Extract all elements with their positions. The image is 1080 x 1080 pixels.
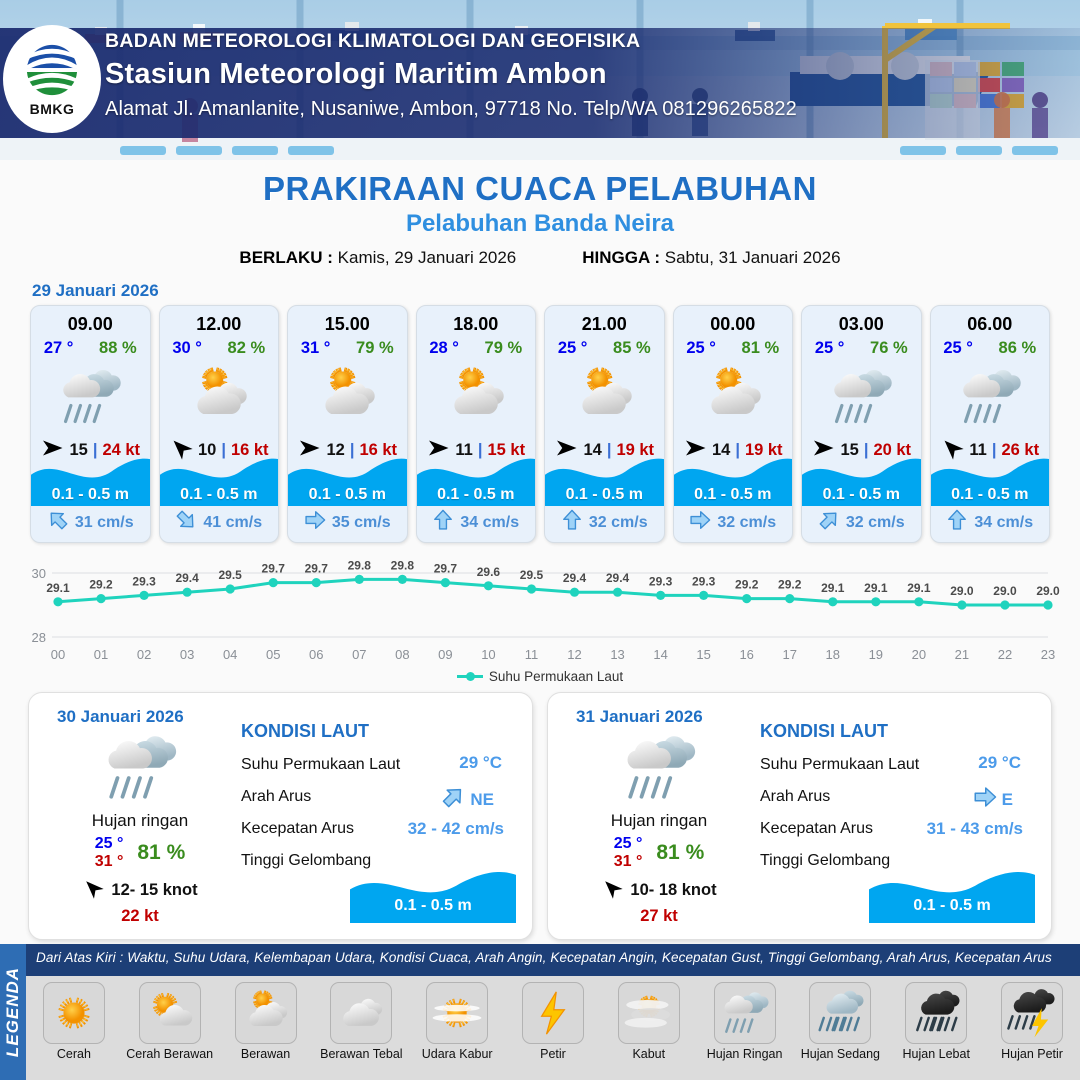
panel-date: 30 Januari 2026 [57,707,235,727]
card-wave-height: 0.1 - 0.5 m [288,486,407,504]
svg-text:01: 01 [94,647,108,662]
legend-label: Suhu Permukaan Laut [489,669,623,684]
sst-value: 29 °C [459,753,502,773]
sst-chart-legend: Suhu Permukaan Laut [0,669,1080,684]
card-wave-height: 0.1 - 0.5 m [417,486,536,504]
header-text-block: BADAN METEOROLOGI KLIMATOLOGI DAN GEOFIS… [105,30,797,121]
svg-text:29.2: 29.2 [89,578,113,592]
svg-text:29.8: 29.8 [391,558,415,572]
current-speed: 34 cm/s [460,514,519,532]
legend-item: Hujan Sedang [793,982,889,1061]
daily-forecast-panel: 31 Januari 2026 Hujan ringan 25 ° 31 ° 8… [547,692,1052,940]
svg-text:30: 30 [32,566,46,581]
legend-item-label: Berawan Tebal [320,1047,402,1061]
agency-name: BADAN METEOROLOGI KLIMATOLOGI DAN GEOFIS… [105,30,797,53]
weather-berawan-icon [235,982,297,1044]
card-current: 35 cm/s [288,509,407,536]
svg-text:29.2: 29.2 [778,578,802,592]
current-direction-arrow-icon [47,509,69,536]
weather-hujan-petir-icon [1001,982,1063,1044]
current-speed: 34 cm/s [974,514,1033,532]
forecast-card: 21.00 25 ° 85 % 14 | 19 kt 0.1 - 0.5 m 3… [544,305,665,543]
legend-item: Berawan Tebal [313,982,409,1061]
weather-berawan-icon [160,360,279,434]
forecast-card: 06.00 25 ° 86 % 11 | 26 kt 0.1 - 0.5 m 3… [930,305,1051,543]
sst-chart: 283029.129.229.329.429.529.729.729.829.8… [18,555,1062,667]
card-humidity: 85 % [613,339,651,358]
svg-text:29.0: 29.0 [993,584,1017,598]
current-speed: 31 cm/s [75,514,134,532]
port-name: Pelabuhan Banda Neira [0,210,1080,238]
svg-text:12: 12 [567,647,581,662]
card-temperature: 25 ° [558,339,588,358]
panel-humidity: 81 % [656,841,704,865]
svg-text:29.2: 29.2 [735,578,759,592]
card-current: 34 cm/s [417,509,536,536]
card-time: 21.00 [582,314,627,335]
validity-row: BERLAKU : Kamis, 29 Januari 2026 HINGGA … [0,248,1080,268]
legend-item-label: Cerah [57,1047,91,1061]
svg-text:29.1: 29.1 [864,581,888,595]
card-current: 31 cm/s [31,509,150,536]
card-humidity: 81 % [742,339,780,358]
panel-wind: 12- 15 knot [45,877,235,904]
current-speed: 35 cm/s [332,514,391,532]
legend-item-label: Petir [540,1047,566,1061]
legend-item: Cerah Berawan [122,982,218,1061]
svg-text:22: 22 [998,647,1012,662]
wind-direction-arrow-icon [601,877,623,904]
legend-line-marker-icon [457,675,483,678]
card-humidity: 88 % [99,339,137,358]
svg-text:29.0: 29.0 [950,584,974,598]
svg-text:29.6: 29.6 [477,565,501,579]
svg-text:13: 13 [610,647,624,662]
card-time: 06.00 [967,314,1012,335]
svg-text:03: 03 [180,647,194,662]
svg-text:20: 20 [912,647,926,662]
weather-petir-icon [522,982,584,1044]
panel-wave-value: 0.1 - 0.5 m [350,897,516,915]
svg-text:05: 05 [266,647,280,662]
card-temperature: 25 ° [943,339,973,358]
weather-hujan-ringan-icon [931,360,1050,434]
svg-text:29.1: 29.1 [821,581,845,595]
svg-text:18: 18 [826,647,840,662]
current-direction-arrow-icon [175,509,197,536]
legend-item: Petir [505,982,601,1061]
card-humidity: 82 % [228,339,266,358]
card-wave-height: 0.1 - 0.5 m [674,486,793,504]
weather-hujan-ringan-icon [714,982,776,1044]
weather-udara-kabur-icon [426,982,488,1044]
svg-text:29.1: 29.1 [46,581,70,595]
legend-item-label: Hujan Ringan [707,1047,783,1061]
card-wave-height: 0.1 - 0.5 m [160,486,279,504]
svg-text:00: 00 [51,647,65,662]
weather-hujan-sedang-icon [809,982,871,1044]
valid-from-value: Kamis, 29 Januari 2026 [338,248,517,267]
legend-item: Kabut [601,982,697,1061]
current-speed: 32 cm/s [717,514,776,532]
panel-temps: 25 ° 31 ° 81 % [564,835,754,871]
panel-temp-max: 31 ° [614,853,643,871]
svg-text:29.5: 29.5 [520,568,544,582]
sst-chart-svg: 283029.129.229.329.429.529.729.729.829.8… [18,555,1062,667]
weather-berawan-icon [674,360,793,434]
current-speed: 32 cm/s [589,514,648,532]
svg-text:16: 16 [739,647,753,662]
legend-item: Hujan Petir [984,982,1080,1061]
weather-hujan-lebat-icon [905,982,967,1044]
panel-wind-speed: 12- 15 knot [111,881,197,900]
current-direction-arrow-icon [946,509,968,536]
current-speed-value: 32 - 42 cm/s [408,819,504,839]
card-current: 34 cm/s [931,509,1050,536]
card-time: 18.00 [453,314,498,335]
legend-note: Dari Atas Kiri : Waktu, Suhu Udara, Kele… [36,950,1052,965]
svg-text:29.1: 29.1 [907,581,931,595]
card-temperature: 25 ° [815,339,845,358]
legend-item: Cerah [26,982,122,1061]
weather-hujan-ringan-icon [802,360,921,434]
current-direction-arrow-icon [818,509,840,536]
card-current: 41 cm/s [160,509,279,536]
card-time: 15.00 [325,314,370,335]
card-time: 09.00 [68,314,113,335]
card-humidity: 86 % [999,339,1037,358]
panel-humidity: 81 % [137,841,185,865]
daily-forecast-panel: 30 Januari 2026 Hujan ringan 25 ° 31 ° 8… [28,692,533,940]
weather-hujan-ringan-icon [31,360,150,434]
svg-text:19: 19 [869,647,883,662]
panel-temp-max: 31 ° [95,853,124,871]
panel-right: KONDISI LAUT Suhu Permukaan Laut 29 °C A… [235,707,516,925]
wind-direction-arrow-icon [82,877,104,904]
legend-footer: LEGENDA Dari Atas Kiri : Waktu, Suhu Uda… [0,944,1080,1080]
forecast-date-label: 29 Januari 2026 [32,281,1080,301]
bmkg-logo-text: BMKG [30,101,75,117]
panel-gust: 27 kt [564,907,754,926]
weather-berawan-icon [288,360,407,434]
panel-wind: 10- 18 knot [564,877,754,904]
forecast-card-row: 09.00 27 ° 88 % 15 | 24 kt 0.1 - 0.5 m 3… [0,305,1080,543]
current-speed: 32 cm/s [846,514,905,532]
current-direction-arrow-icon [973,785,997,814]
current-direction-arrow-icon [432,509,454,536]
card-wave-height: 0.1 - 0.5 m [802,486,921,504]
svg-text:29.7: 29.7 [262,562,286,576]
valid-to-label: HINGGA : [582,248,660,267]
svg-text:17: 17 [783,647,797,662]
legend-item-row: Cerah Cerah Berawan Berawan Berawan Teba… [26,976,1080,1080]
weather-berawan-icon [417,360,536,434]
current-direction-value: E [973,785,1013,814]
card-humidity: 79 % [485,339,523,358]
svg-text:29.5: 29.5 [218,568,242,582]
current-direction-value: NE [441,785,494,814]
page-header: BMKG BADAN METEOROLOGI KLIMATOLOGI DAN G… [0,0,1080,160]
card-humidity: 76 % [870,339,908,358]
svg-text:29.0: 29.0 [1036,584,1060,598]
legend-item-label: Hujan Petir [1001,1047,1063,1061]
svg-text:15: 15 [696,647,710,662]
forecast-card: 00.00 25 ° 81 % 14 | 19 kt 0.1 - 0.5 m 3… [673,305,794,543]
card-time: 03.00 [839,314,884,335]
sst-value: 29 °C [978,753,1021,773]
card-temperature: 28 ° [429,339,459,358]
legend-item-label: Berawan [241,1047,290,1061]
forecast-card: 15.00 31 ° 79 % 12 | 16 kt 0.1 - 0.5 m 3… [287,305,408,543]
svg-text:29.7: 29.7 [305,562,329,576]
panel-left: 30 Januari 2026 Hujan ringan 25 ° 31 ° 8… [45,707,235,925]
weather-hujan-ringan-icon [564,729,754,807]
svg-text:06: 06 [309,647,323,662]
legend-item: Hujan Ringan [697,982,793,1061]
panel-right: KONDISI LAUT Suhu Permukaan Laut 29 °C A… [754,707,1035,925]
card-current: 32 cm/s [545,509,664,536]
panel-temps: 25 ° 31 ° 81 % [45,835,235,871]
weather-berawan-tebal-icon [330,982,392,1044]
card-temperature: 27 ° [44,339,74,358]
svg-text:28: 28 [32,630,46,645]
weather-cerah-berawan-icon [139,982,201,1044]
weather-kabut-icon [618,982,680,1044]
panel-left: 31 Januari 2026 Hujan ringan 25 ° 31 ° 8… [564,707,754,925]
legend-side-label: LEGENDA [3,967,23,1057]
panel-temp-min: 25 ° [614,835,643,853]
daily-panels: 30 Januari 2026 Hujan ringan 25 ° 31 ° 8… [0,684,1080,940]
svg-text:29.3: 29.3 [692,574,716,588]
svg-text:04: 04 [223,647,237,662]
card-temperature: 25 ° [686,339,716,358]
weather-berawan-icon [545,360,664,434]
weather-hujan-ringan-icon [45,729,235,807]
svg-text:11: 11 [525,647,539,662]
svg-text:29.4: 29.4 [175,571,199,585]
panel-temp-min: 25 ° [95,835,124,853]
svg-text:10: 10 [481,647,495,662]
svg-text:08: 08 [395,647,409,662]
card-current: 32 cm/s [674,509,793,536]
legend-item: Udara Kabur [409,982,505,1061]
legend-item-label: Kabut [632,1047,665,1061]
card-wave-height: 0.1 - 0.5 m [931,486,1050,504]
card-temperature: 30 ° [172,339,202,358]
station-address: Alamat Jl. Amanlanite, Nusaniwe, Ambon, … [105,98,797,121]
title-block: PRAKIRAAN CUACA PELABUHAN Pelabuhan Band… [0,160,1080,268]
svg-text:07: 07 [352,647,366,662]
valid-to: HINGGA : Sabtu, 31 Januari 2026 [582,248,840,268]
current-speed: 41 cm/s [203,514,262,532]
panel-wave-value: 0.1 - 0.5 m [869,897,1035,915]
card-current: 32 cm/s [802,509,921,536]
card-time: 12.00 [196,314,241,335]
legend-item-label: Cerah Berawan [126,1047,213,1061]
bmkg-logo-mark [23,42,81,100]
card-temperature: 31 ° [301,339,331,358]
panel-condition: Hujan ringan [564,811,754,831]
current-direction-arrow-icon [304,509,326,536]
svg-text:14: 14 [653,647,667,662]
panel-wind-speed: 10- 18 knot [630,881,716,900]
current-direction-arrow-icon [441,785,465,814]
sea-condition-title: KONDISI LAUT [760,721,1035,742]
svg-text:29.8: 29.8 [348,558,372,572]
panel-date: 31 Januari 2026 [576,707,754,727]
weather-cerah-icon [43,982,105,1044]
svg-text:29.3: 29.3 [132,574,156,588]
legend-item-label: Hujan Sedang [801,1047,880,1061]
forecast-card: 03.00 25 ° 76 % 15 | 20 kt 0.1 - 0.5 m 3… [801,305,922,543]
legend-item: Berawan [218,982,314,1061]
bmkg-logo: BMKG [3,25,101,133]
current-direction-arrow-icon [689,509,711,536]
svg-text:23: 23 [1041,647,1055,662]
sea-condition-title: KONDISI LAUT [241,721,516,742]
svg-text:09: 09 [438,647,452,662]
forecast-card: 09.00 27 ° 88 % 15 | 24 kt 0.1 - 0.5 m 3… [30,305,151,543]
svg-text:29.4: 29.4 [606,571,630,585]
current-speed-value: 31 - 43 cm/s [927,819,1023,839]
panel-condition: Hujan ringan [45,811,235,831]
legend-item: Hujan Lebat [888,982,984,1061]
current-direction-arrow-icon [561,509,583,536]
svg-text:21: 21 [955,647,969,662]
card-time: 00.00 [710,314,755,335]
forecast-card: 12.00 30 ° 82 % 10 | 16 kt 0.1 - 0.5 m 4… [159,305,280,543]
card-wave-height: 0.1 - 0.5 m [545,486,664,504]
svg-text:29.3: 29.3 [649,574,673,588]
svg-text:29.7: 29.7 [434,562,458,576]
card-humidity: 79 % [356,339,394,358]
legend-item-label: Hujan Lebat [903,1047,970,1061]
legend-side-bar: LEGENDA [0,944,26,1080]
svg-text:29.4: 29.4 [563,571,587,585]
svg-text:02: 02 [137,647,151,662]
valid-from: BERLAKU : Kamis, 29 Januari 2026 [239,248,516,268]
legend-item-label: Udara Kabur [422,1047,493,1061]
forecast-card: 18.00 28 ° 79 % 11 | 15 kt 0.1 - 0.5 m 3… [416,305,537,543]
valid-to-value: Sabtu, 31 Januari 2026 [665,248,841,267]
page-title: PRAKIRAAN CUACA PELABUHAN [0,170,1080,208]
valid-from-label: BERLAKU : [239,248,333,267]
station-name: Stasiun Meteorologi Maritim Ambon [105,58,797,91]
card-wave-height: 0.1 - 0.5 m [31,486,150,504]
panel-gust: 22 kt [45,907,235,926]
